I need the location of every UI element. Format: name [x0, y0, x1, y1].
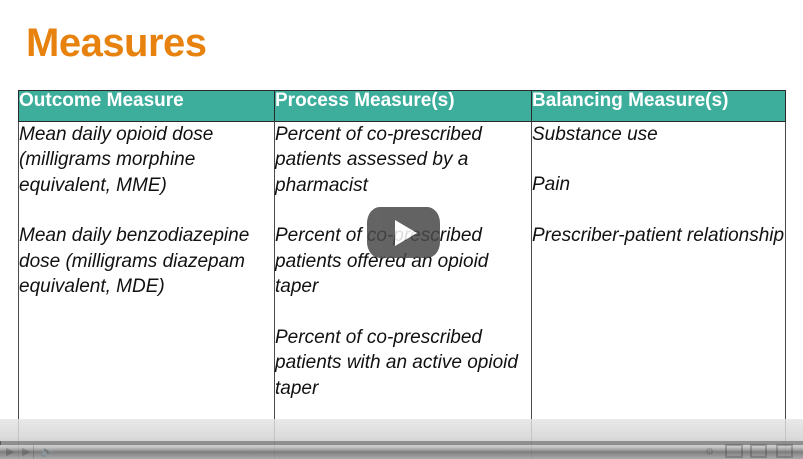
player-volume-icon[interactable]: 🔊 — [40, 446, 51, 459]
player-fullscreen-icon[interactable] — [776, 444, 793, 458]
measures-table: Outcome Measure Process Measure(s) Balan… — [18, 90, 786, 459]
progress-bar-fill — [0, 441, 1, 445]
slide-canvas: Measures Outcome Measure Process Measure… — [0, 0, 803, 459]
column-header-outcome-measure: Outcome Measure — [19, 91, 275, 122]
player-miniplayer-icon[interactable] — [750, 444, 767, 458]
process-item-3: Percent of co-prescribed patients with a… — [275, 325, 531, 401]
player-time-display — [58, 446, 138, 459]
column-header-balancing-measure: Balancing Measure(s) — [532, 91, 786, 122]
balancing-item-1: Substance use — [532, 122, 785, 147]
cell-balancing-measures: Substance use Pain Prescriber-patient re… — [532, 122, 786, 459]
play-button-overlay[interactable] — [367, 207, 440, 258]
player-settings-gear-icon[interactable]: ⚙ — [705, 446, 717, 459]
outcome-item-1: Mean daily opioid dose (milligrams morph… — [19, 122, 274, 198]
table-header-row: Outcome Measure Process Measure(s) Balan… — [19, 91, 786, 122]
cell-process-measures: Percent of co-prescribed patients assess… — [275, 122, 532, 459]
column-header-process-measure: Process Measure(s) — [275, 91, 532, 122]
player-next-icon[interactable]: ▶│ — [22, 446, 31, 459]
progress-bar-track[interactable] — [0, 441, 803, 445]
balancing-item-3: Prescriber-patient relationship — [532, 223, 785, 248]
balancing-item-2: Pain — [532, 172, 785, 197]
page-title: Measures — [26, 23, 207, 63]
process-item-1: Percent of co-prescribed patients assess… — [275, 122, 531, 198]
play-icon — [395, 220, 417, 246]
table-row: Mean daily opioid dose (milligrams morph… — [19, 122, 786, 459]
cell-outcome-measures: Mean daily opioid dose (milligrams morph… — [19, 122, 275, 459]
outcome-item-2: Mean daily benzodiazepine dose (milligra… — [19, 223, 274, 299]
player-play-icon[interactable]: ▶ — [6, 446, 15, 459]
player-theater-mode-icon[interactable] — [725, 444, 743, 458]
video-player-control-bar[interactable]: ▶ ▶│ 🔊 ⚙ — [0, 419, 803, 459]
